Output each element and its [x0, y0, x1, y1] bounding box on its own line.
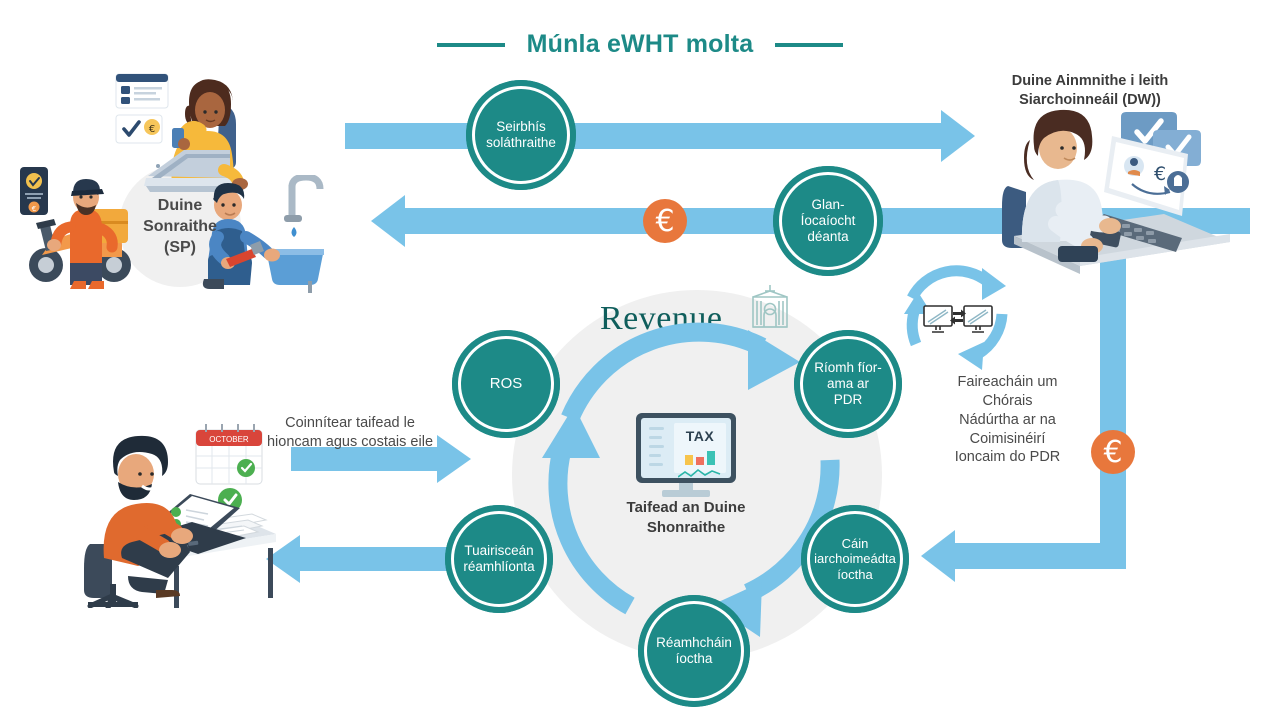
monitoring-line2: Chórais — [900, 392, 1115, 411]
diagram-canvas: Múnla eWHT molta Revenue — [0, 0, 1280, 720]
record-label-line1: Taifead an Duine — [586, 498, 786, 518]
calendar-month-label: OCTOBER — [209, 435, 249, 444]
illustration-selfassessed-desk: OCTOBER — [78, 408, 293, 608]
monitoring-line5: Ioncaim do PDR — [900, 448, 1115, 467]
title-rule-right — [775, 43, 843, 47]
monitoring-line3: Nádúrtha ar na — [900, 411, 1115, 430]
illustration-designated-withholder: € — [1000, 100, 1250, 275]
flow-arrow-netpay-head — [371, 195, 405, 247]
euro-badge-top: € — [643, 199, 687, 243]
svg-text:€: € — [32, 205, 36, 213]
monitor-tax-label: TAX — [678, 428, 722, 444]
sp-label-line2: Sonraithe — [120, 217, 240, 238]
taxpayer-record-monitor-icon: TAX — [636, 413, 736, 483]
sp-label-line1: Duine — [120, 196, 240, 217]
flow-arrow-wht-head — [921, 530, 955, 582]
node-prelim-line2: íoctha — [670, 651, 719, 666]
node-prefilled-line2: réamhlíonta — [457, 559, 540, 574]
svg-text:€: € — [1154, 163, 1166, 185]
node-realtime-pdr[interactable]: Ríomh fíor- ama ar PDR — [794, 330, 902, 438]
sp-actor-label: Duine Sonraithe (SP) — [120, 196, 240, 258]
record-label-line2: Shonraithe — [586, 518, 786, 538]
monitoring-line4: Coimisinéirí — [900, 430, 1115, 449]
flow-arrow-prefilled-bar — [300, 547, 450, 571]
node-wht-line3: íoctha — [831, 567, 878, 582]
title-text: Múnla eWHT molta — [527, 30, 754, 59]
taxpayer-record-label: Taifead an Duine Shonraithe — [586, 498, 786, 538]
node-service-line1: Seirbhís — [490, 119, 552, 134]
flow-arrow-service-head — [941, 110, 975, 162]
node-netpay-line3: déanta — [801, 229, 854, 244]
node-preliminary-tax-paid[interactable]: Réamhcháin íoctha — [638, 595, 750, 707]
node-prefilled-return[interactable]: Tuairisceán réamhlíonta — [445, 505, 553, 613]
node-netpay-line1: Glan- — [805, 197, 850, 212]
monitoring-annotation: Faireacháin um Chórais Nádúrtha ar na Co… — [900, 373, 1115, 467]
flow-arrow-service-bar — [345, 123, 945, 149]
node-withholding-tax-paid[interactable]: Cáin iarchoimeádta íoctha — [801, 505, 909, 613]
node-prefilled-line1: Tuairisceán — [458, 543, 539, 558]
title-rule-left — [437, 43, 505, 47]
node-service-provided[interactable]: Seirbhís soláthraithe — [466, 80, 576, 190]
node-wht-line2: iarchoimeádta — [808, 551, 902, 566]
node-wht-line1: Cáin — [836, 536, 875, 551]
node-netpay-line2: Íocaíocht — [795, 213, 862, 228]
svg-text:€: € — [149, 124, 155, 135]
node-realtime-line2: ama ar — [821, 376, 875, 391]
node-ros[interactable]: ROS — [452, 330, 560, 438]
node-ros-line1: ROS — [484, 375, 529, 392]
node-prelim-line1: Réamhcháin — [650, 635, 738, 650]
flow-arrow-wht-horizontal — [955, 543, 1126, 569]
sp-label-line3: (SP) — [120, 238, 240, 259]
node-realtime-line3: PDR — [828, 392, 869, 407]
monitor-base — [662, 490, 710, 497]
dw-label-line1: Duine Ainmnithe i leith — [960, 72, 1220, 91]
monitoring-line1: Faireacháin um — [900, 373, 1115, 392]
node-service-line2: soláthraithe — [480, 135, 562, 150]
diagram-title: Múnla eWHT molta — [0, 30, 1280, 59]
node-net-payment-made[interactable]: Glan- Íocaíocht déanta — [773, 166, 883, 276]
node-realtime-line1: Ríomh fíor- — [808, 360, 888, 375]
